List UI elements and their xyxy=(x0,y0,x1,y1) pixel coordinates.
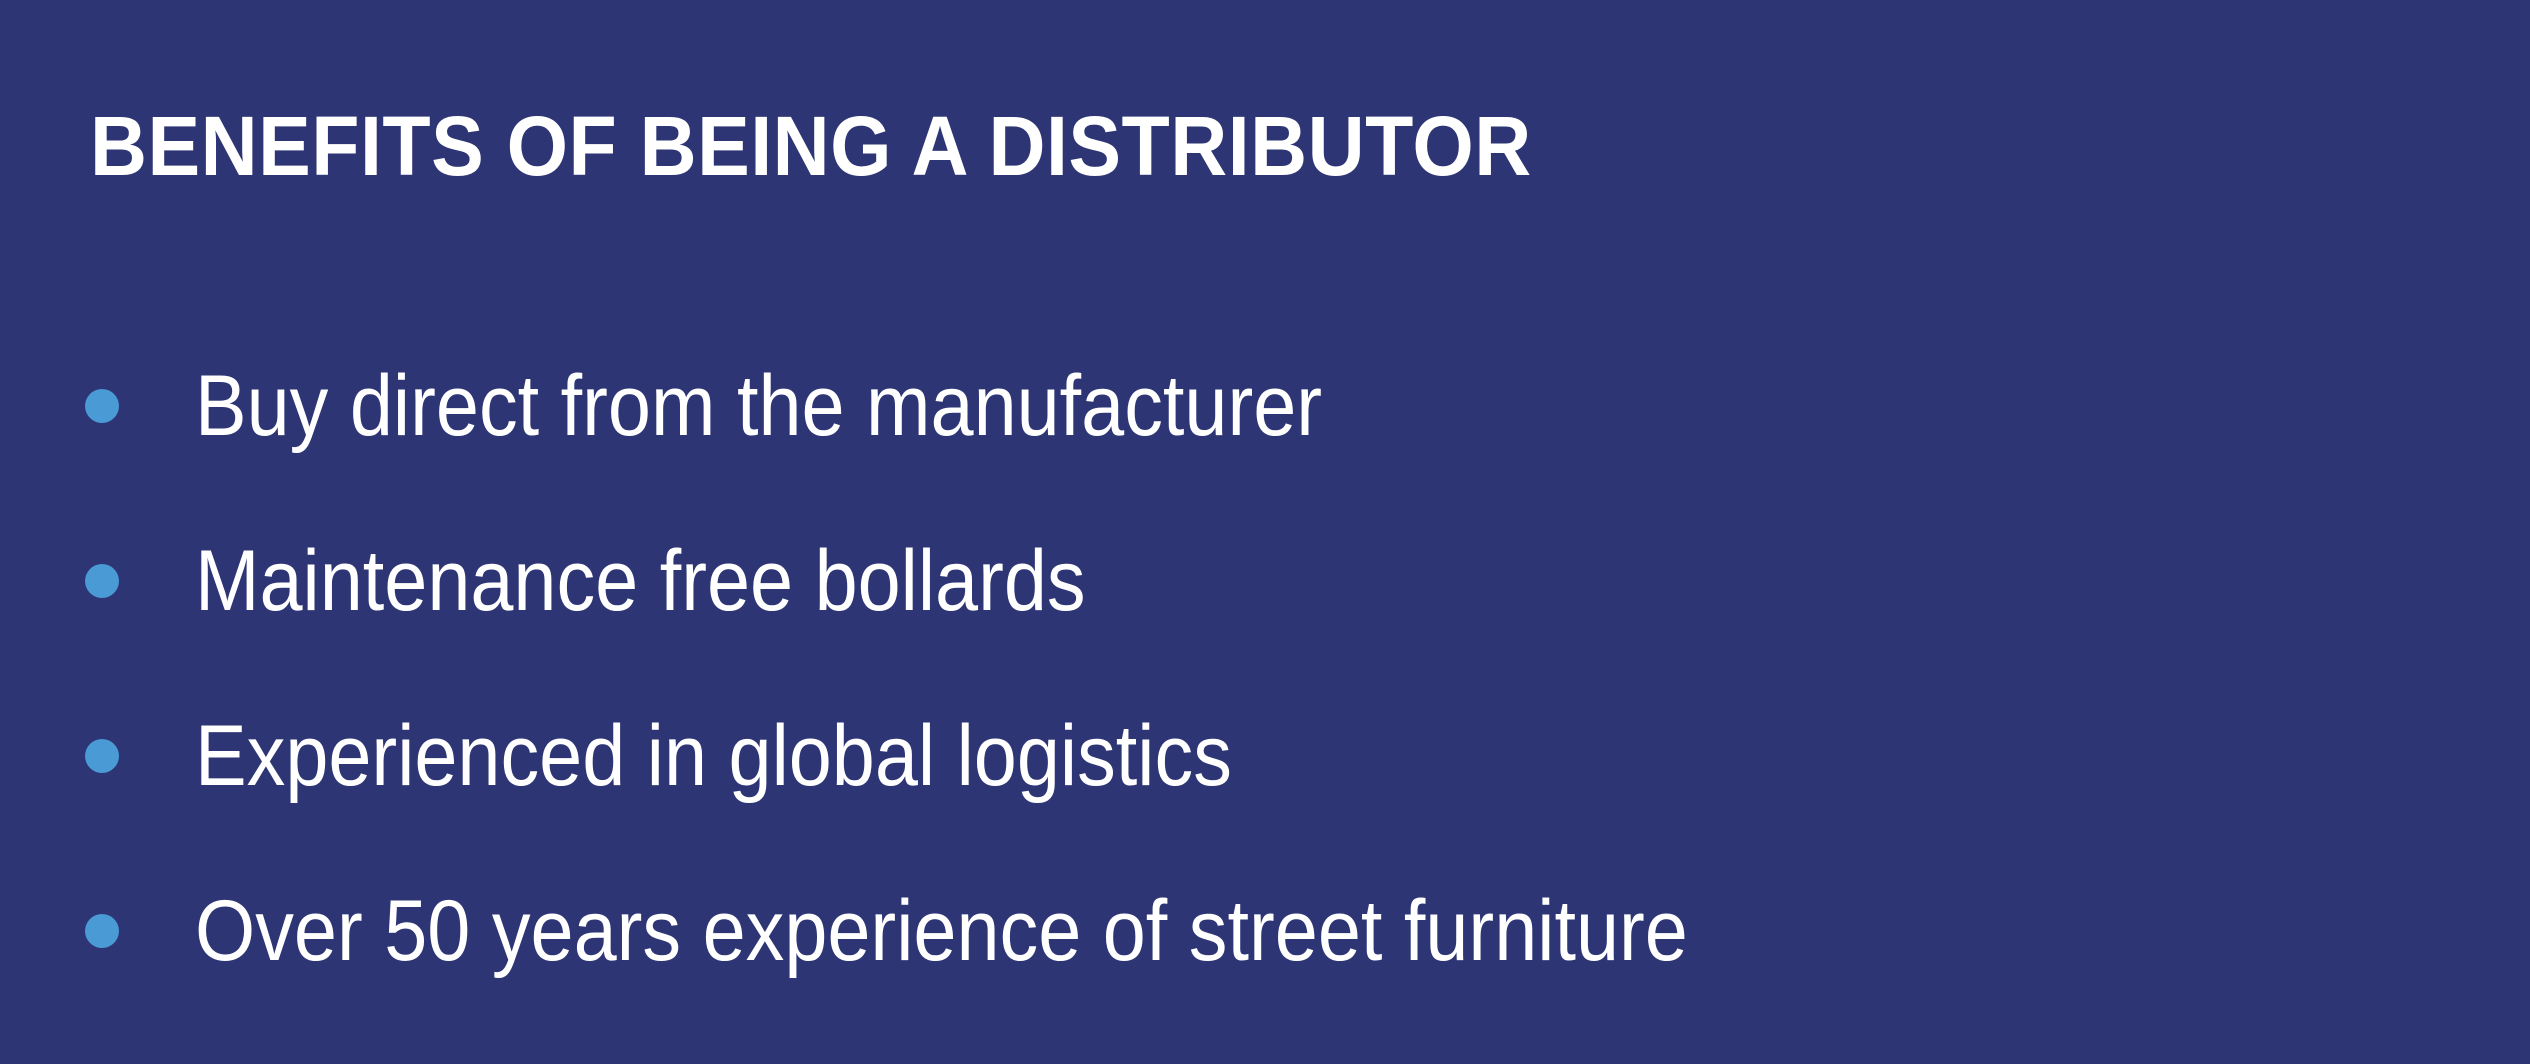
bullet-dot-icon xyxy=(85,914,119,948)
list-item: Over 50 years experience of street furni… xyxy=(0,843,2530,1018)
benefit-label: Experienced in global logistics xyxy=(195,713,1232,799)
benefits-list: Buy direct from the manufacturer Mainten… xyxy=(0,318,2530,1018)
benefit-label: Buy direct from the manufacturer xyxy=(195,363,1322,449)
list-item: Maintenance free bollards xyxy=(0,493,2530,668)
bullet-dot-icon xyxy=(85,564,119,598)
benefits-slide: BENEFITS OF BEING A DISTRIBUTOR Buy dire… xyxy=(0,0,2530,1064)
benefit-label: Maintenance free bollards xyxy=(195,538,1086,624)
page-title: BENEFITS OF BEING A DISTRIBUTOR xyxy=(90,104,1532,188)
bullet-dot-icon xyxy=(85,389,119,423)
bullet-dot-icon xyxy=(85,739,119,773)
list-item: Buy direct from the manufacturer xyxy=(0,318,2530,493)
benefit-label: Over 50 years experience of street furni… xyxy=(195,888,1688,974)
list-item: Experienced in global logistics xyxy=(0,668,2530,843)
